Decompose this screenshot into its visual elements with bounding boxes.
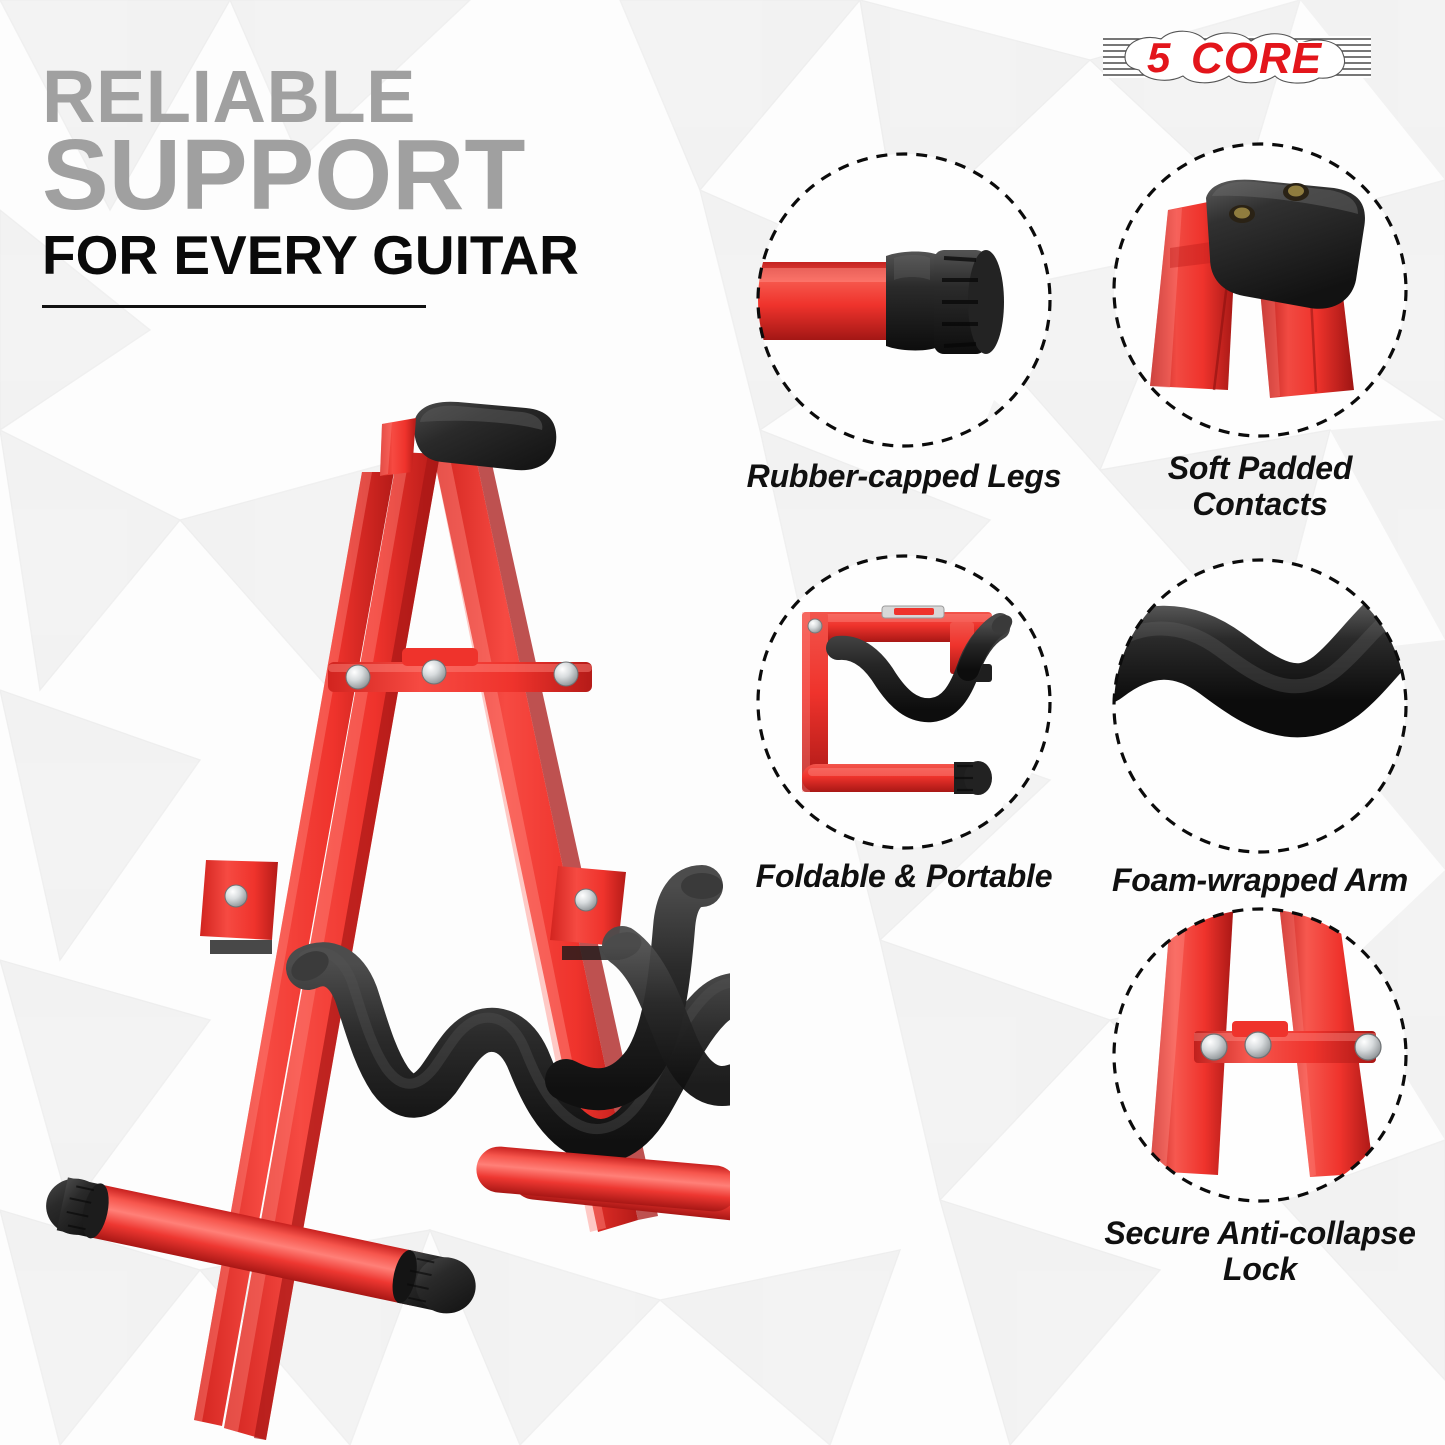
rivet xyxy=(1245,1032,1271,1058)
headline-line-2: SUPPORT xyxy=(42,128,579,223)
rivet xyxy=(1201,1034,1227,1060)
rubber-cap-right xyxy=(388,1247,481,1319)
feature-5-label: Secure Anti-collapse Lock xyxy=(1090,1215,1430,1288)
rivet xyxy=(1355,1034,1381,1060)
feature-2-label-line2: Contacts xyxy=(1192,486,1327,522)
feature-4-label: Foam-wrapped Arm xyxy=(1100,862,1420,898)
feature-foldable-portable: Foldable & Portable xyxy=(744,552,1064,894)
hero-product-guitar-stand xyxy=(10,380,730,1440)
stand-hinge-left xyxy=(200,860,278,954)
logo-word-core: CORE xyxy=(1191,34,1323,83)
feature-5-label-line2: Lock xyxy=(1223,1251,1297,1287)
headline-block: RELIABLE SUPPORT FOR EVERY GUITAR xyxy=(42,62,579,308)
feature-1-image xyxy=(754,150,1054,450)
headline-line-3: FOR EVERY GUITAR xyxy=(42,227,579,285)
feature-2-label: Soft Padded Contacts xyxy=(1100,450,1420,523)
headline-underline xyxy=(42,305,426,308)
rivet xyxy=(422,660,446,684)
feature-rubber-capped-legs: Rubber-capped Legs xyxy=(744,150,1064,494)
feature-4-image xyxy=(1110,556,1410,856)
rivet xyxy=(575,889,597,911)
brand-logo-5core: 5 CORE xyxy=(1099,26,1371,88)
logo-digit-5: 5 xyxy=(1147,34,1171,81)
rivet xyxy=(554,662,578,686)
rivet xyxy=(225,885,247,907)
feature-soft-padded-contacts: Soft Padded Contacts xyxy=(1100,140,1420,523)
feature-2-image xyxy=(1110,140,1410,440)
rivet xyxy=(346,665,370,689)
feature-foam-wrapped-arm: Foam-wrapped Arm xyxy=(1100,556,1420,898)
feature-5-image xyxy=(1110,905,1410,1205)
feature-2-label-line1: Soft Padded xyxy=(1168,450,1352,486)
feature-1-label: Rubber-capped Legs xyxy=(744,458,1064,494)
feature-secure-anti-collapse-lock: Secure Anti-collapse Lock xyxy=(1090,905,1430,1288)
feature-5-label-line1: Secure Anti-collapse xyxy=(1104,1215,1415,1251)
feature-3-image xyxy=(754,552,1054,852)
feature-3-label: Foldable & Portable xyxy=(744,858,1064,894)
